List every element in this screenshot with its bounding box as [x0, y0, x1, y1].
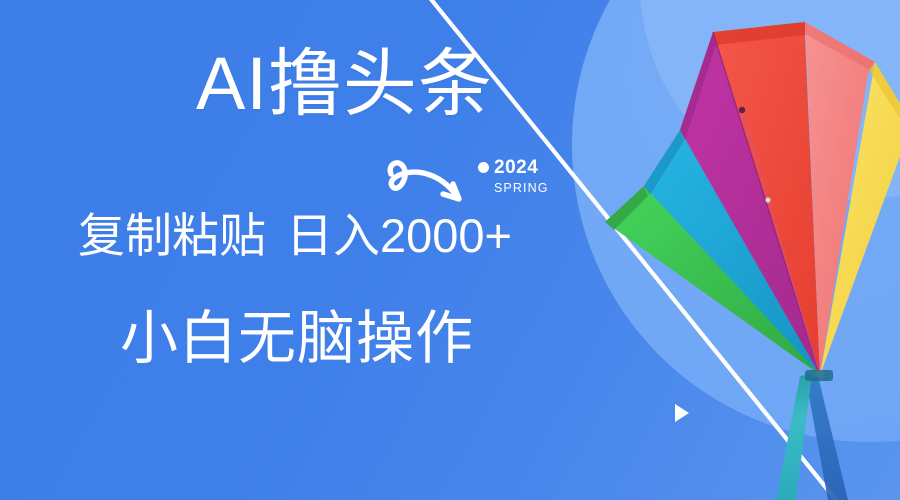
page-title: AI撸头条	[196, 46, 493, 123]
year-badge: 2024 SPRING	[478, 158, 549, 195]
kite-fitting-mid	[765, 197, 770, 202]
kite-tail-teal	[776, 374, 812, 500]
kite-tail-connector	[805, 370, 833, 381]
badge-year: 2024	[494, 158, 538, 177]
curly-arrow-icon	[383, 146, 475, 216]
play-triangle-icon[interactable]	[674, 403, 690, 423]
subtitle-line-1: 复制粘贴日入2000+	[78, 209, 512, 263]
subtitle-line-1-part-2: 日入2000+	[286, 209, 512, 262]
badge-season: SPRING	[494, 182, 549, 195]
subtitle-line-1-part-1: 复制粘贴	[78, 209, 266, 262]
rainbow-kite-graphic	[600, 0, 900, 500]
poster-canvas: AI撸头条 2024 SPRING 复制粘贴日入2000+ 小白无脑操作	[0, 0, 900, 500]
kite-fitting-top	[739, 107, 745, 113]
kite-tail-blue	[806, 376, 848, 500]
subtitle-line-2: 小白无脑操作	[120, 306, 474, 373]
bullet-dot-icon	[478, 162, 489, 173]
